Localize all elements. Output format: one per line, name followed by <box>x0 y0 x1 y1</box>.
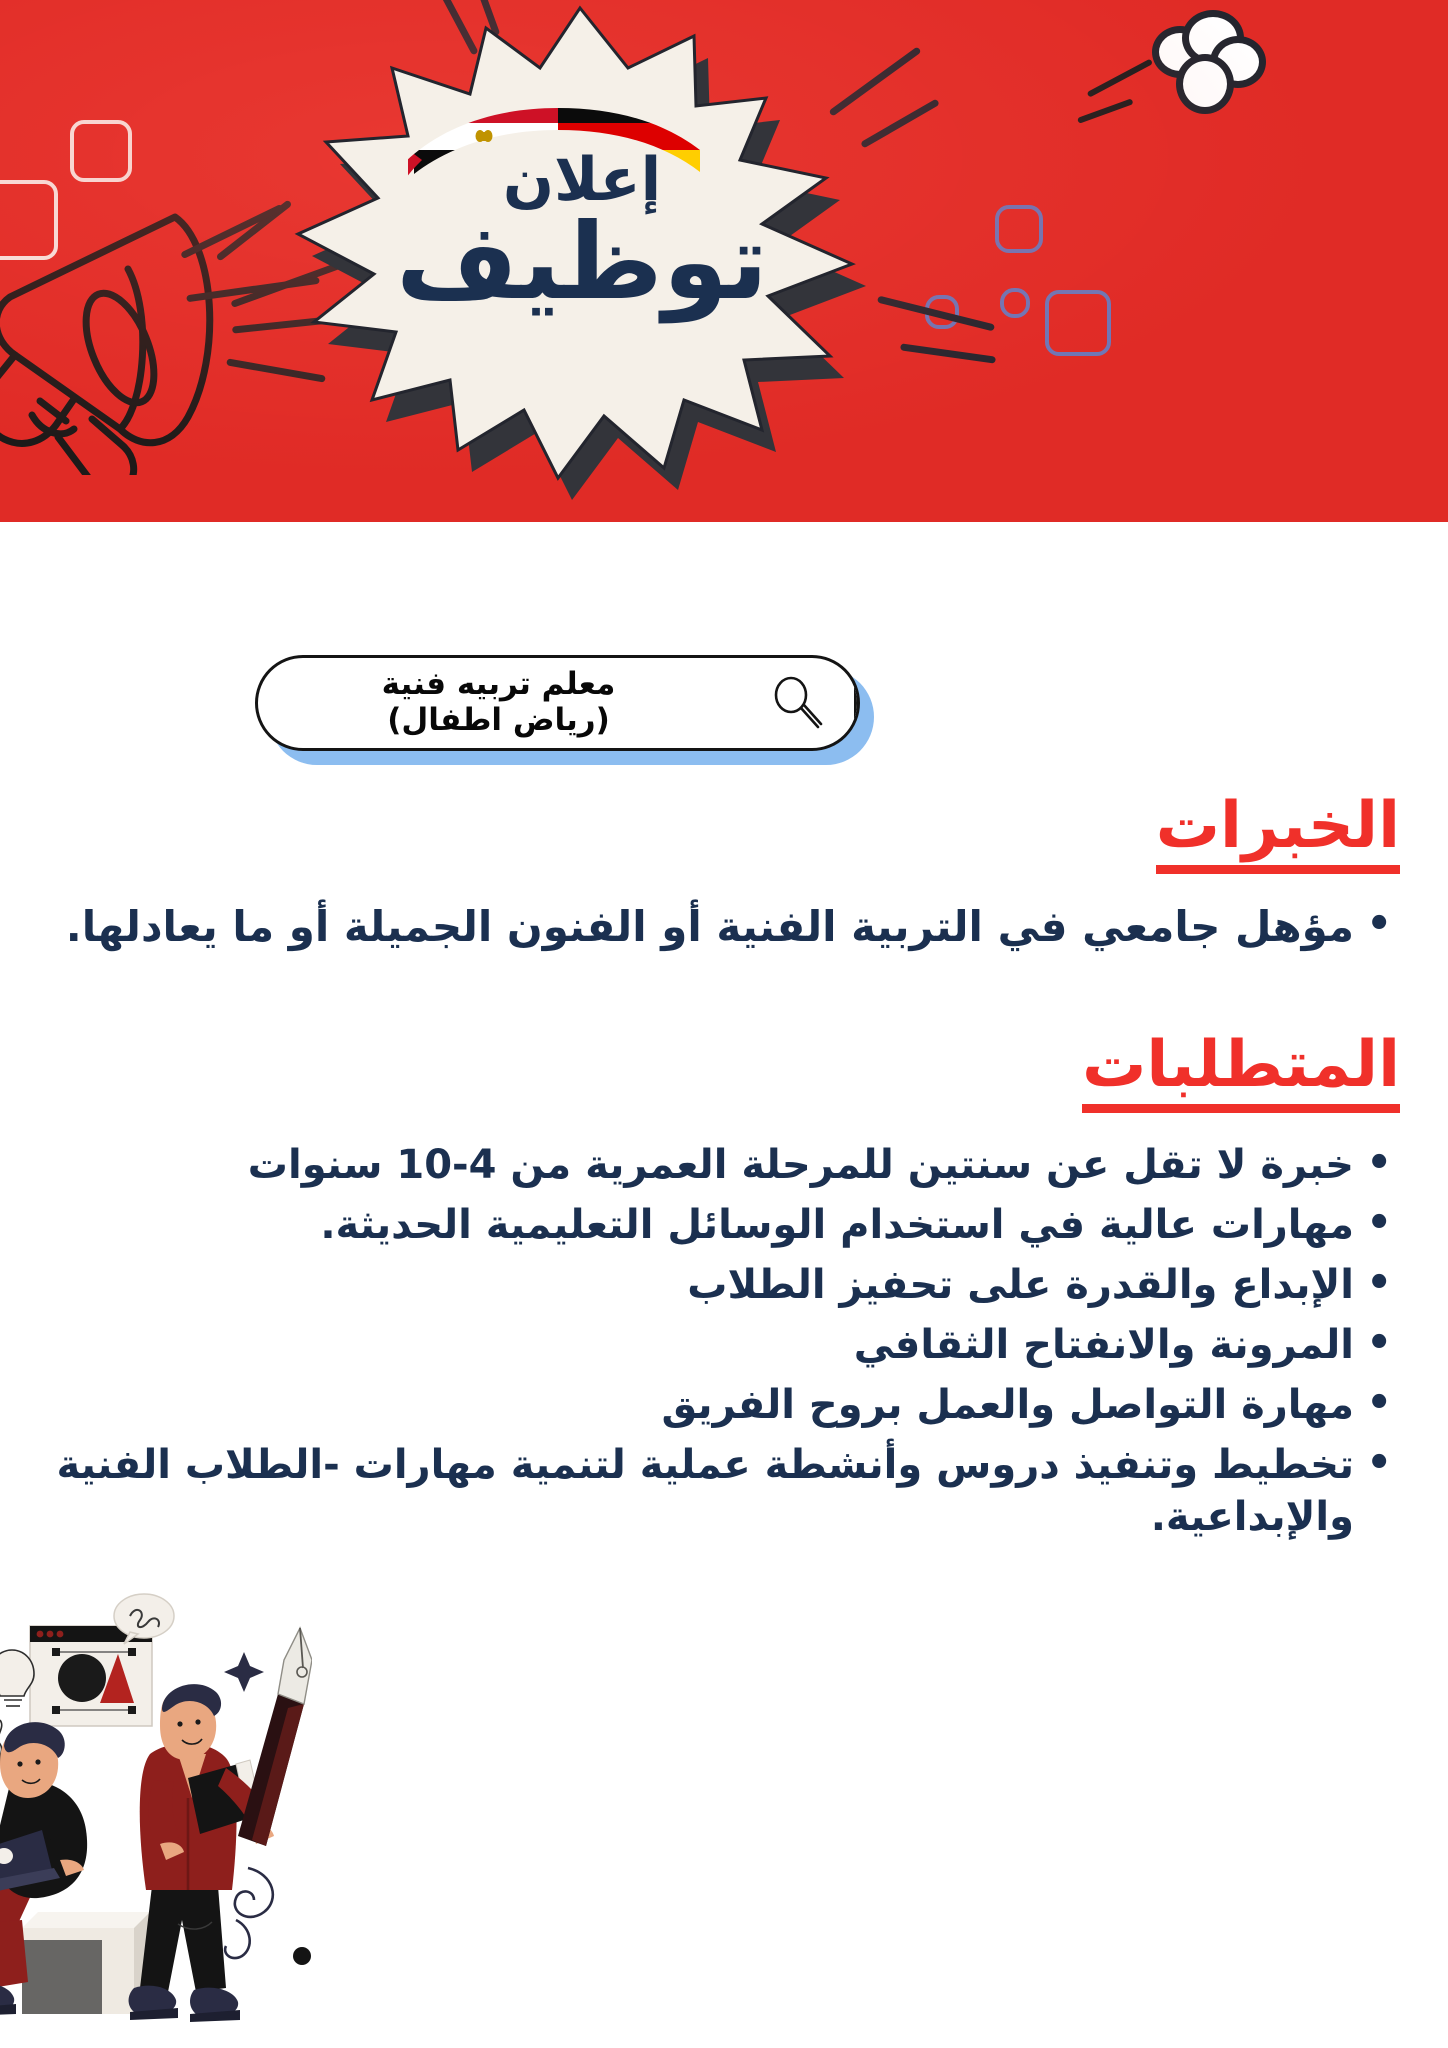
deco-square-blue-2 <box>1000 288 1030 318</box>
list-item: تخطيط وتنفيذ دروس وأنشطة عملية لتنمية مه… <box>52 1439 1396 1543</box>
burst-body <box>292 2 872 482</box>
illustration-graphic <box>0 1568 312 2048</box>
requirements-heading: المتطلبات <box>0 1029 1448 1113</box>
list-item: خبرة لا تقل عن سنتين للمرحلة العمرية من … <box>52 1139 1396 1191</box>
job-advertisement-poster: إعلان توظيف معلم تربيه فنية (رياض اطفال) <box>0 0 1448 2048</box>
list-item: مهارة التواصل والعمل بروح الفريق <box>52 1379 1396 1431</box>
experience-heading-text: الخبرات <box>1156 790 1400 874</box>
cloud-swoosh-2 <box>1077 98 1134 123</box>
job-title-line-1: معلم تربيه فنية <box>382 667 616 703</box>
deco-square-blue-1 <box>995 205 1043 253</box>
deco-square-white-1 <box>70 120 132 182</box>
experience-heading: الخبرات <box>0 790 1448 874</box>
magnifier-icon <box>766 672 828 734</box>
requirements-section: المتطلبات خبرة لا تقل عن سنتين للمرحلة ا… <box>0 1029 1448 1543</box>
search-button[interactable] <box>739 658 857 748</box>
cloud-lobe-4 <box>1176 54 1234 114</box>
requirements-list: خبرة لا تقل عن سنتين للمرحلة العمرية من … <box>0 1139 1448 1543</box>
list-item: مؤهل جامعي في التربية الفنية أو الفنون ا… <box>52 900 1396 955</box>
right-speed-line-2 <box>900 343 996 363</box>
egypt-germany-flags <box>408 96 708 176</box>
megaphone-icon <box>0 205 300 475</box>
cloud-puff-icon <box>1148 10 1276 125</box>
deco-square-blue-3 <box>1045 290 1111 356</box>
experience-section: الخبرات مؤهل جامعي في التربية الفنية أو … <box>0 790 1448 955</box>
cloud-swoosh-1 <box>1087 59 1153 98</box>
poster-content: الخبرات مؤهل جامعي في التربية الفنية أو … <box>0 790 1448 1551</box>
requirements-heading-text: المتطلبات <box>1082 1029 1400 1113</box>
creative-team-illustration <box>0 1568 312 2048</box>
flags-ribbon <box>408 96 708 176</box>
search-input[interactable]: معلم تربيه فنية (رياض اطفال) <box>258 658 739 748</box>
comic-burst <box>292 2 872 482</box>
job-title-search-bar[interactable]: معلم تربيه فنية (رياض اطفال) <box>255 655 875 765</box>
list-item: مهارات عالية في استخدام الوسائل التعليمي… <box>52 1199 1396 1251</box>
list-item: المرونة والانفتاح الثقافي <box>52 1319 1396 1371</box>
list-item: الإبداع والقدرة على تحفيز الطلاب <box>52 1259 1396 1311</box>
search-bar-pill[interactable]: معلم تربيه فنية (رياض اطفال) <box>255 655 860 751</box>
job-title-line-2: (رياض اطفال) <box>387 703 610 739</box>
experience-list: مؤهل جامعي في التربية الفنية أو الفنون ا… <box>0 900 1448 955</box>
